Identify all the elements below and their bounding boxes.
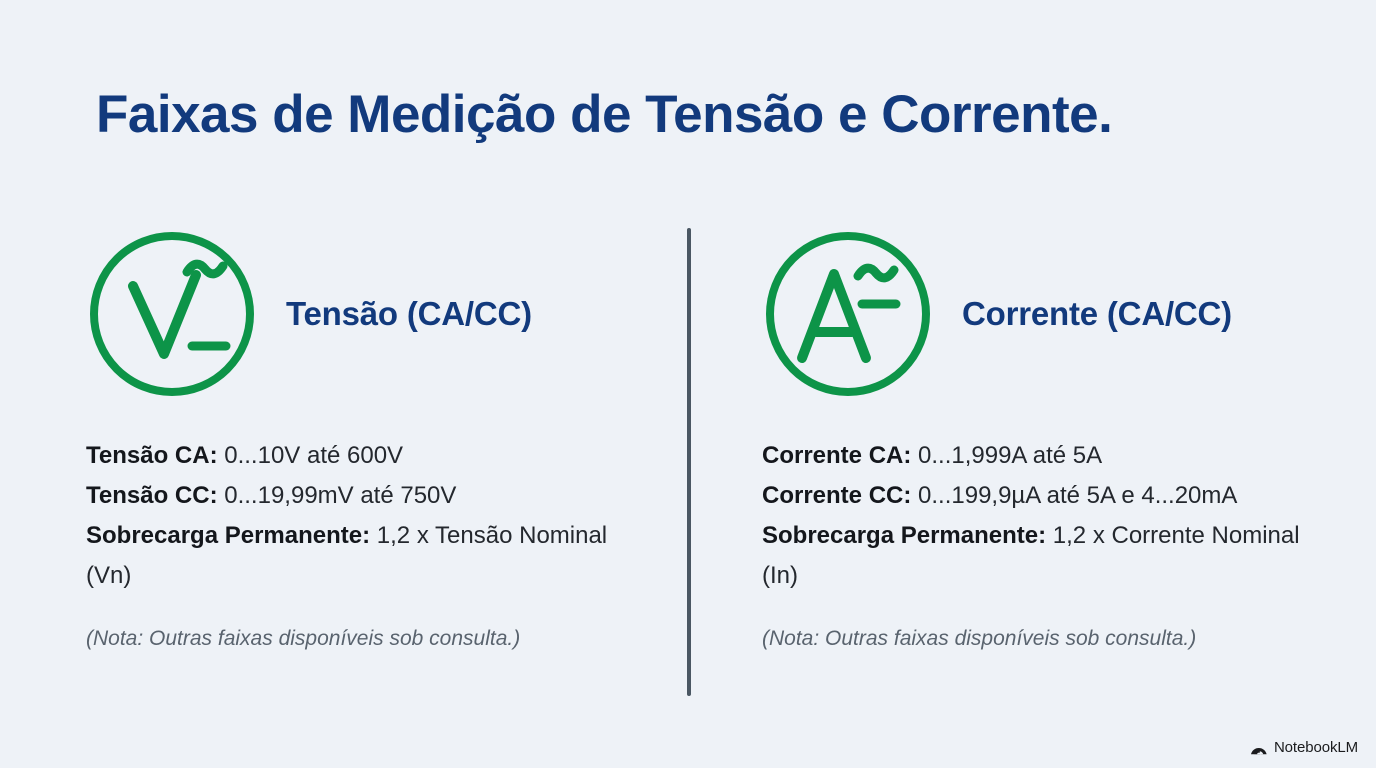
spec-row: Corrente CC: 0...199,9µA até 5A e 4...20… [762, 476, 1332, 516]
spec-label: Tensão CA: [86, 442, 218, 469]
spec-label: Sobrecarga Permanente: [86, 522, 370, 549]
spec-value: 0...199,9µA até 5A e 4...20mA [918, 482, 1237, 509]
current-note: (Nota: Outras faixas disponíveis sob con… [762, 624, 1332, 654]
spec-row: Sobrecarga Permanente: 1,2 x Tensão Nomi… [86, 516, 646, 596]
current-spec-list: Corrente CA: 0...1,999A até 5A Corrente … [762, 436, 1332, 596]
spec-value: 0...10V até 600V [224, 442, 403, 469]
spec-value: 0...19,99mV até 750V [224, 482, 456, 509]
voltage-note: (Nota: Outras faixas disponíveis sob con… [86, 624, 646, 654]
watermark-label: NotebookLM [1274, 739, 1358, 756]
notebooklm-spiral-icon [1250, 740, 1268, 756]
current-ac-dc-icon [762, 228, 934, 400]
column-divider [687, 228, 691, 696]
spec-label: Tensão CC: [86, 482, 218, 509]
current-heading: Corrente (CA/CC) [962, 295, 1232, 333]
voltage-header-row: Tensão (CA/CC) [86, 228, 646, 400]
voltage-ac-dc-icon [86, 228, 258, 400]
voltage-spec-list: Tensão CA: 0...10V até 600V Tensão CC: 0… [86, 436, 646, 596]
spec-row: Sobrecarga Permanente: 1,2 x Corrente No… [762, 516, 1332, 596]
spec-row: Tensão CA: 0...10V até 600V [86, 436, 646, 476]
spec-label: Sobrecarga Permanente: [762, 522, 1046, 549]
column-voltage: Tensão (CA/CC) Tensão CA: 0...10V até 60… [86, 228, 646, 654]
voltage-heading: Tensão (CA/CC) [286, 295, 532, 333]
spec-label: Corrente CC: [762, 482, 911, 509]
spec-label: Corrente CA: [762, 442, 911, 469]
slide-canvas: Faixas de Medição de Tensão e Corrente. … [0, 0, 1376, 768]
spec-row: Corrente CA: 0...1,999A até 5A [762, 436, 1332, 476]
column-current: Corrente (CA/CC) Corrente CA: 0...1,999A… [762, 228, 1332, 654]
spec-row: Tensão CC: 0...19,99mV até 750V [86, 476, 646, 516]
spec-value: 0...1,999A até 5A [918, 442, 1102, 469]
notebooklm-watermark: NotebookLM [1250, 739, 1358, 756]
page-title: Faixas de Medição de Tensão e Corrente. [96, 84, 1112, 146]
current-header-row: Corrente (CA/CC) [762, 228, 1332, 400]
